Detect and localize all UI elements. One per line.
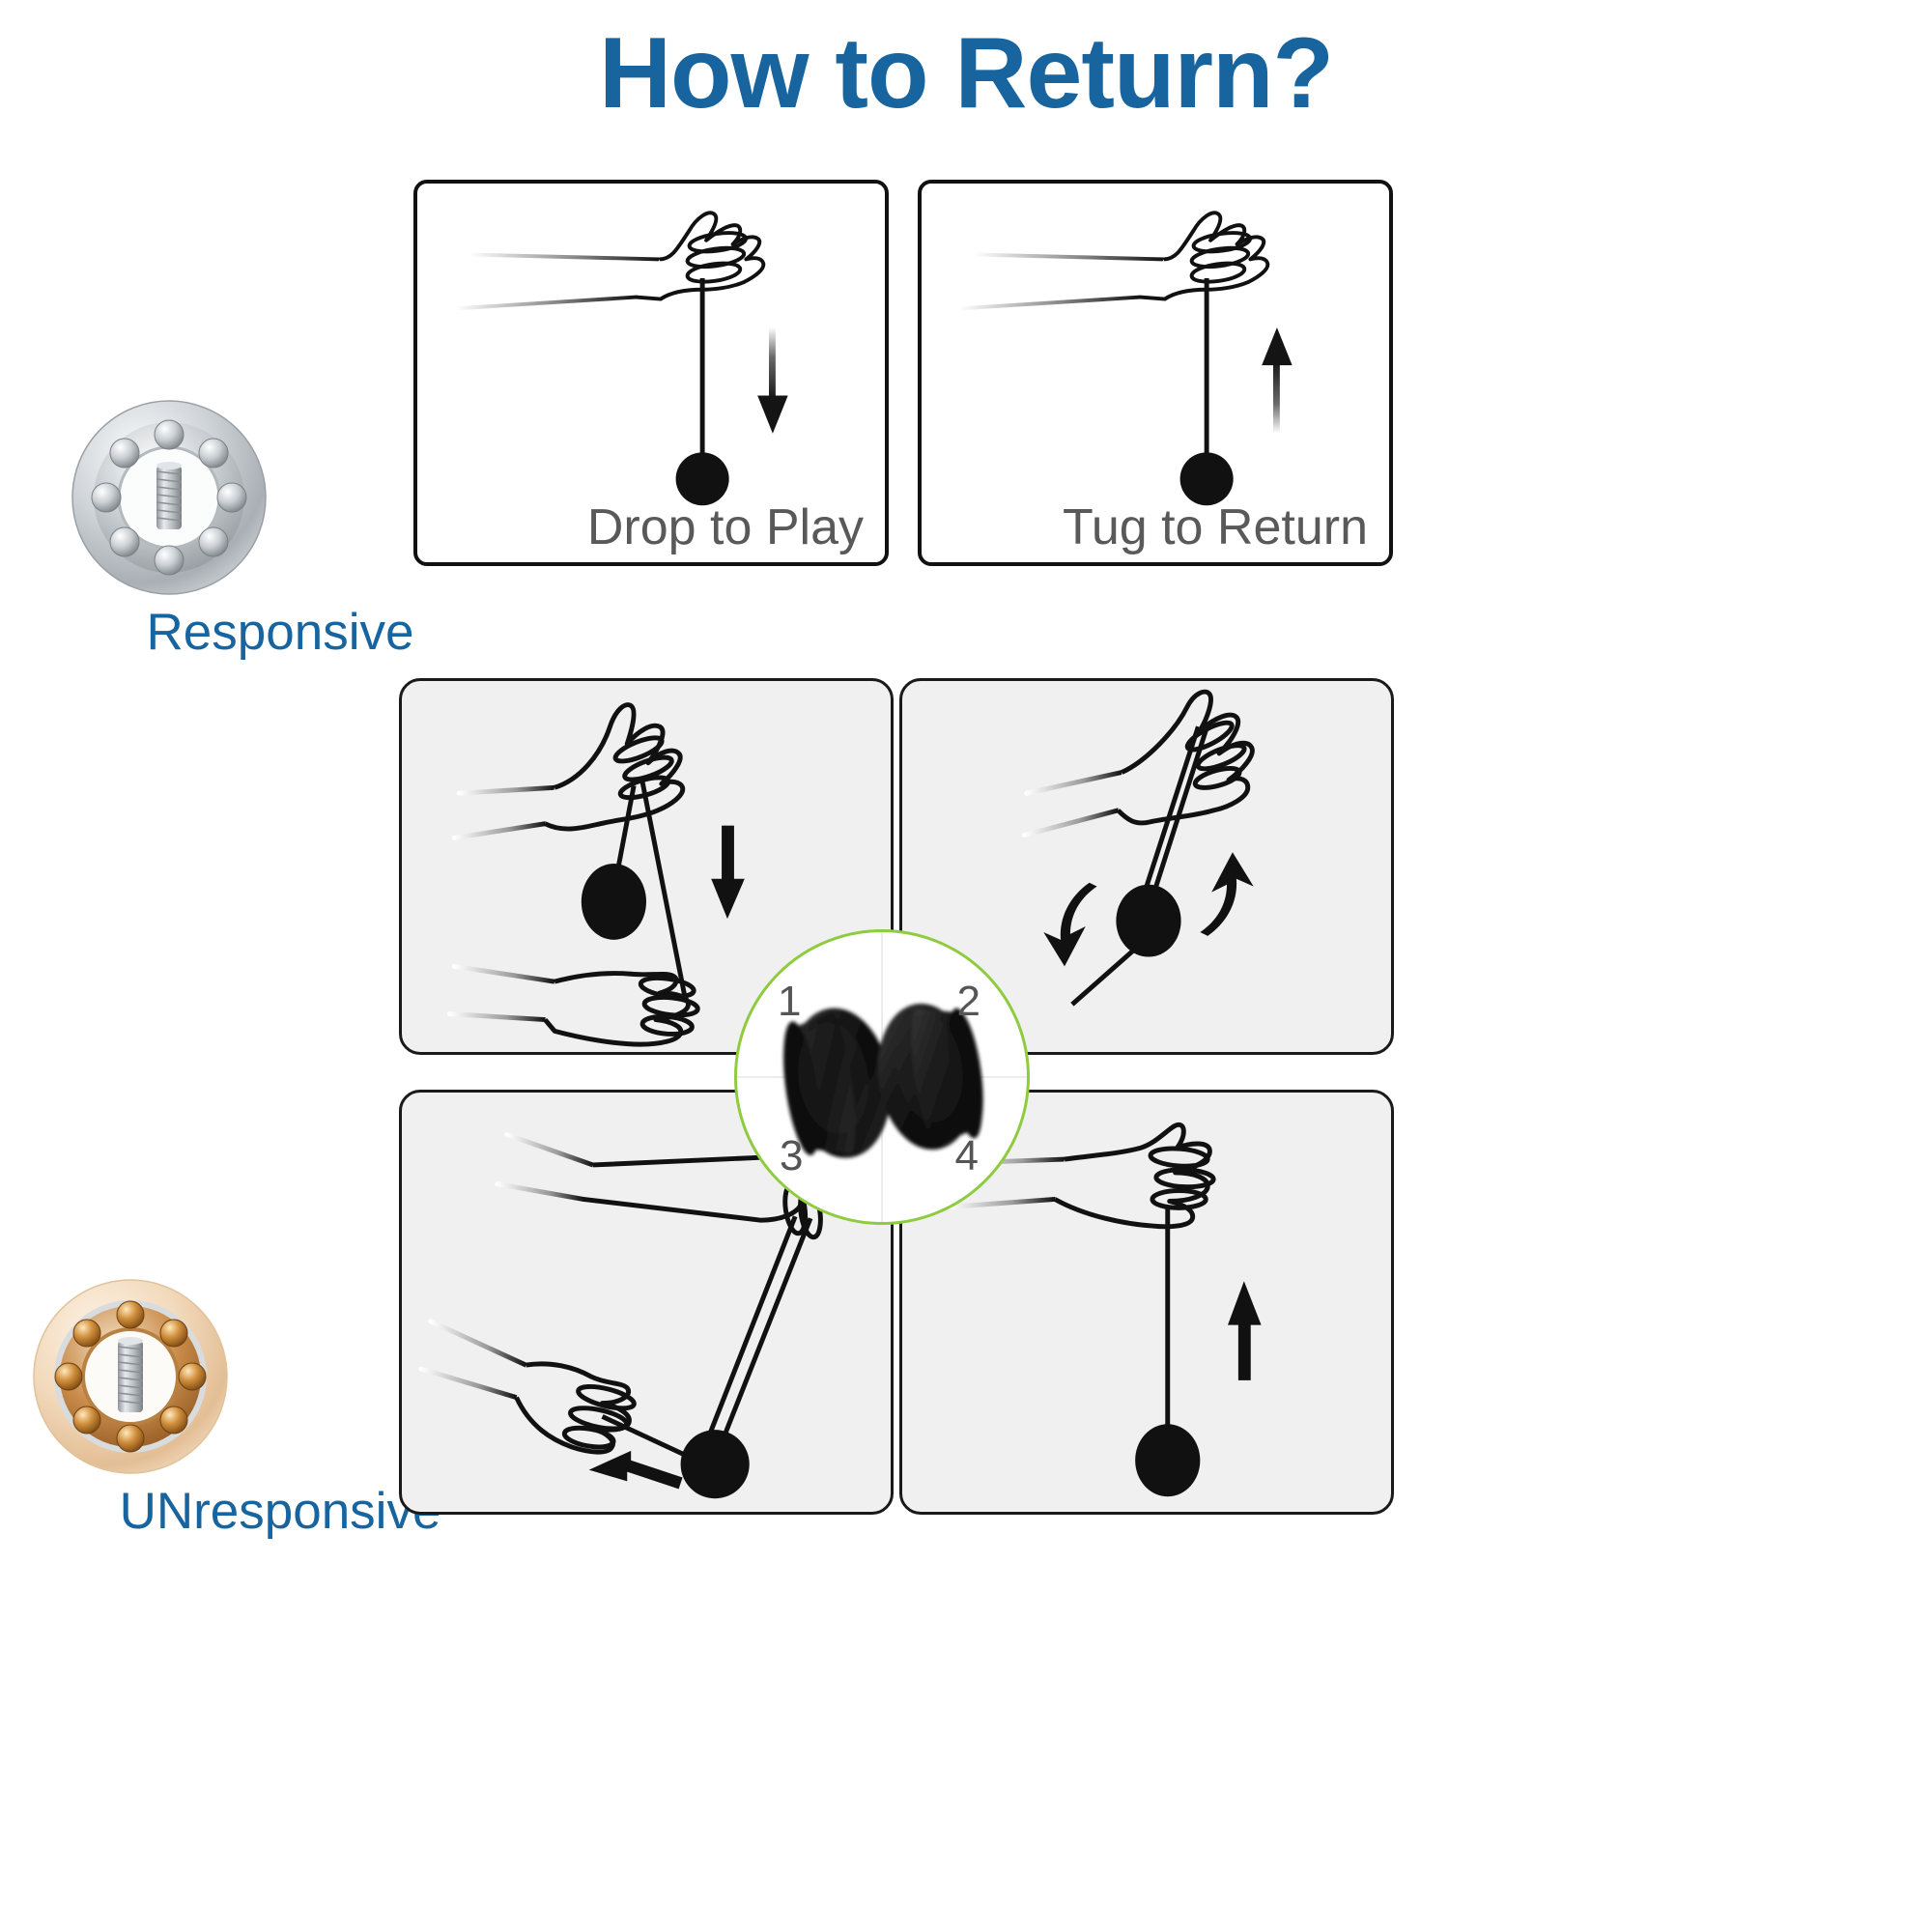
responsive-label: Responsive [68,605,493,661]
yoyo-icon [676,452,729,505]
yoyo-badge-number-2: 2 [957,980,980,1023]
arrow-down-icon [711,826,745,919]
panel-caption: Drop to Play [587,498,864,556]
yoyo-string [642,781,686,1004]
hand-icon [1025,692,1253,835]
panel-tug-to-return: Tug to Return [918,180,1393,566]
panel-drop-to-play: Drop to Play [413,180,889,566]
arrow-down-icon [757,327,787,434]
hand-icon [959,213,1267,308]
hand-icon [449,966,698,1044]
yoyo-string [705,1216,795,1445]
yoyo-badge-number-4: 4 [955,1135,979,1178]
arrow-up-icon [1262,327,1292,434]
hand-icon [455,213,763,308]
arrow-left-icon [589,1451,683,1489]
page-title: How to Return? [0,21,1932,127]
yoyo-icon [1135,1424,1200,1496]
yoyo-icon [1116,885,1180,957]
yoyo-icon [1180,452,1234,505]
panel-caption: Tug to Return [1063,498,1368,556]
yoyo-icon [582,864,646,940]
arrow-up-icon [1228,1281,1262,1380]
hand-icon [421,1321,637,1452]
yoyo-icon [681,1430,750,1498]
yoyo-badge-number-1: 1 [778,980,801,1023]
yoyo-badge-number-3: 3 [780,1135,803,1178]
yoyo-badge: 1 2 3 4 [734,929,1030,1225]
